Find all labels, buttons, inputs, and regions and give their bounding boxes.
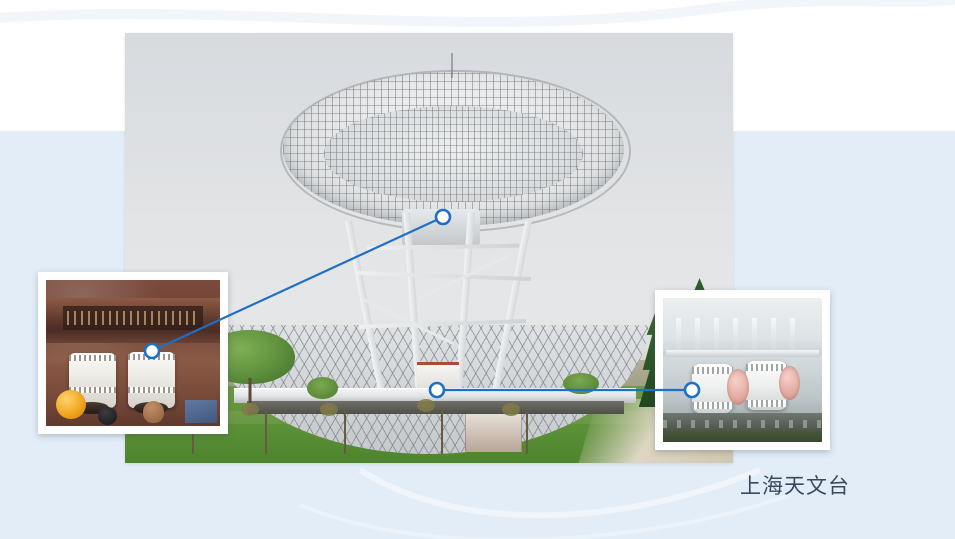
parabolic-dish xyxy=(283,72,623,227)
feed-mast xyxy=(451,53,453,78)
bolt-row xyxy=(67,311,199,326)
sapling xyxy=(441,407,443,454)
inset-photo-right[interactable] xyxy=(655,290,830,450)
bearing-bolt-band xyxy=(69,355,116,361)
worker-figure xyxy=(185,400,216,423)
worker-figure xyxy=(98,407,117,425)
shrub xyxy=(563,373,599,395)
sapling-crown xyxy=(241,403,259,416)
bearing-bolt-band xyxy=(128,387,175,393)
slide-canvas: 上海天文台 xyxy=(0,0,955,539)
bearing-drum xyxy=(128,352,175,409)
shrub xyxy=(307,377,337,399)
mount-brace xyxy=(367,244,519,251)
mount-brace xyxy=(359,319,526,329)
bearing-end-face xyxy=(727,369,749,405)
horizontal-beam xyxy=(666,350,819,357)
worker-figure xyxy=(143,401,164,423)
bearing-bolt-band xyxy=(128,354,175,360)
frame-beam xyxy=(46,330,220,343)
inset-right-image xyxy=(663,298,822,442)
ground-strip xyxy=(663,430,822,442)
sapling-crown xyxy=(502,403,520,416)
sapling xyxy=(344,411,346,454)
inset-left-image xyxy=(46,280,220,426)
bearing-flange xyxy=(746,400,787,407)
sapling-crown xyxy=(320,403,338,416)
bearing-flange xyxy=(746,364,787,371)
upper-structure xyxy=(663,298,822,356)
observatory-caption: 上海天文台 xyxy=(740,470,850,500)
sapling xyxy=(265,411,267,454)
orange-sphere xyxy=(56,390,86,419)
mount-leg xyxy=(489,221,532,407)
base-bolt-row xyxy=(663,420,822,427)
bearing-flange xyxy=(692,367,733,374)
sapling xyxy=(526,411,528,454)
bearing-end-face xyxy=(779,366,800,401)
mount-brace xyxy=(356,271,531,281)
counterweight-box xyxy=(465,411,522,452)
inset-photo-left[interactable] xyxy=(38,272,228,434)
sapling-crown xyxy=(417,399,435,412)
bearing-flange xyxy=(692,402,733,409)
tree-trunk xyxy=(248,378,251,403)
concrete-apron xyxy=(247,401,624,414)
